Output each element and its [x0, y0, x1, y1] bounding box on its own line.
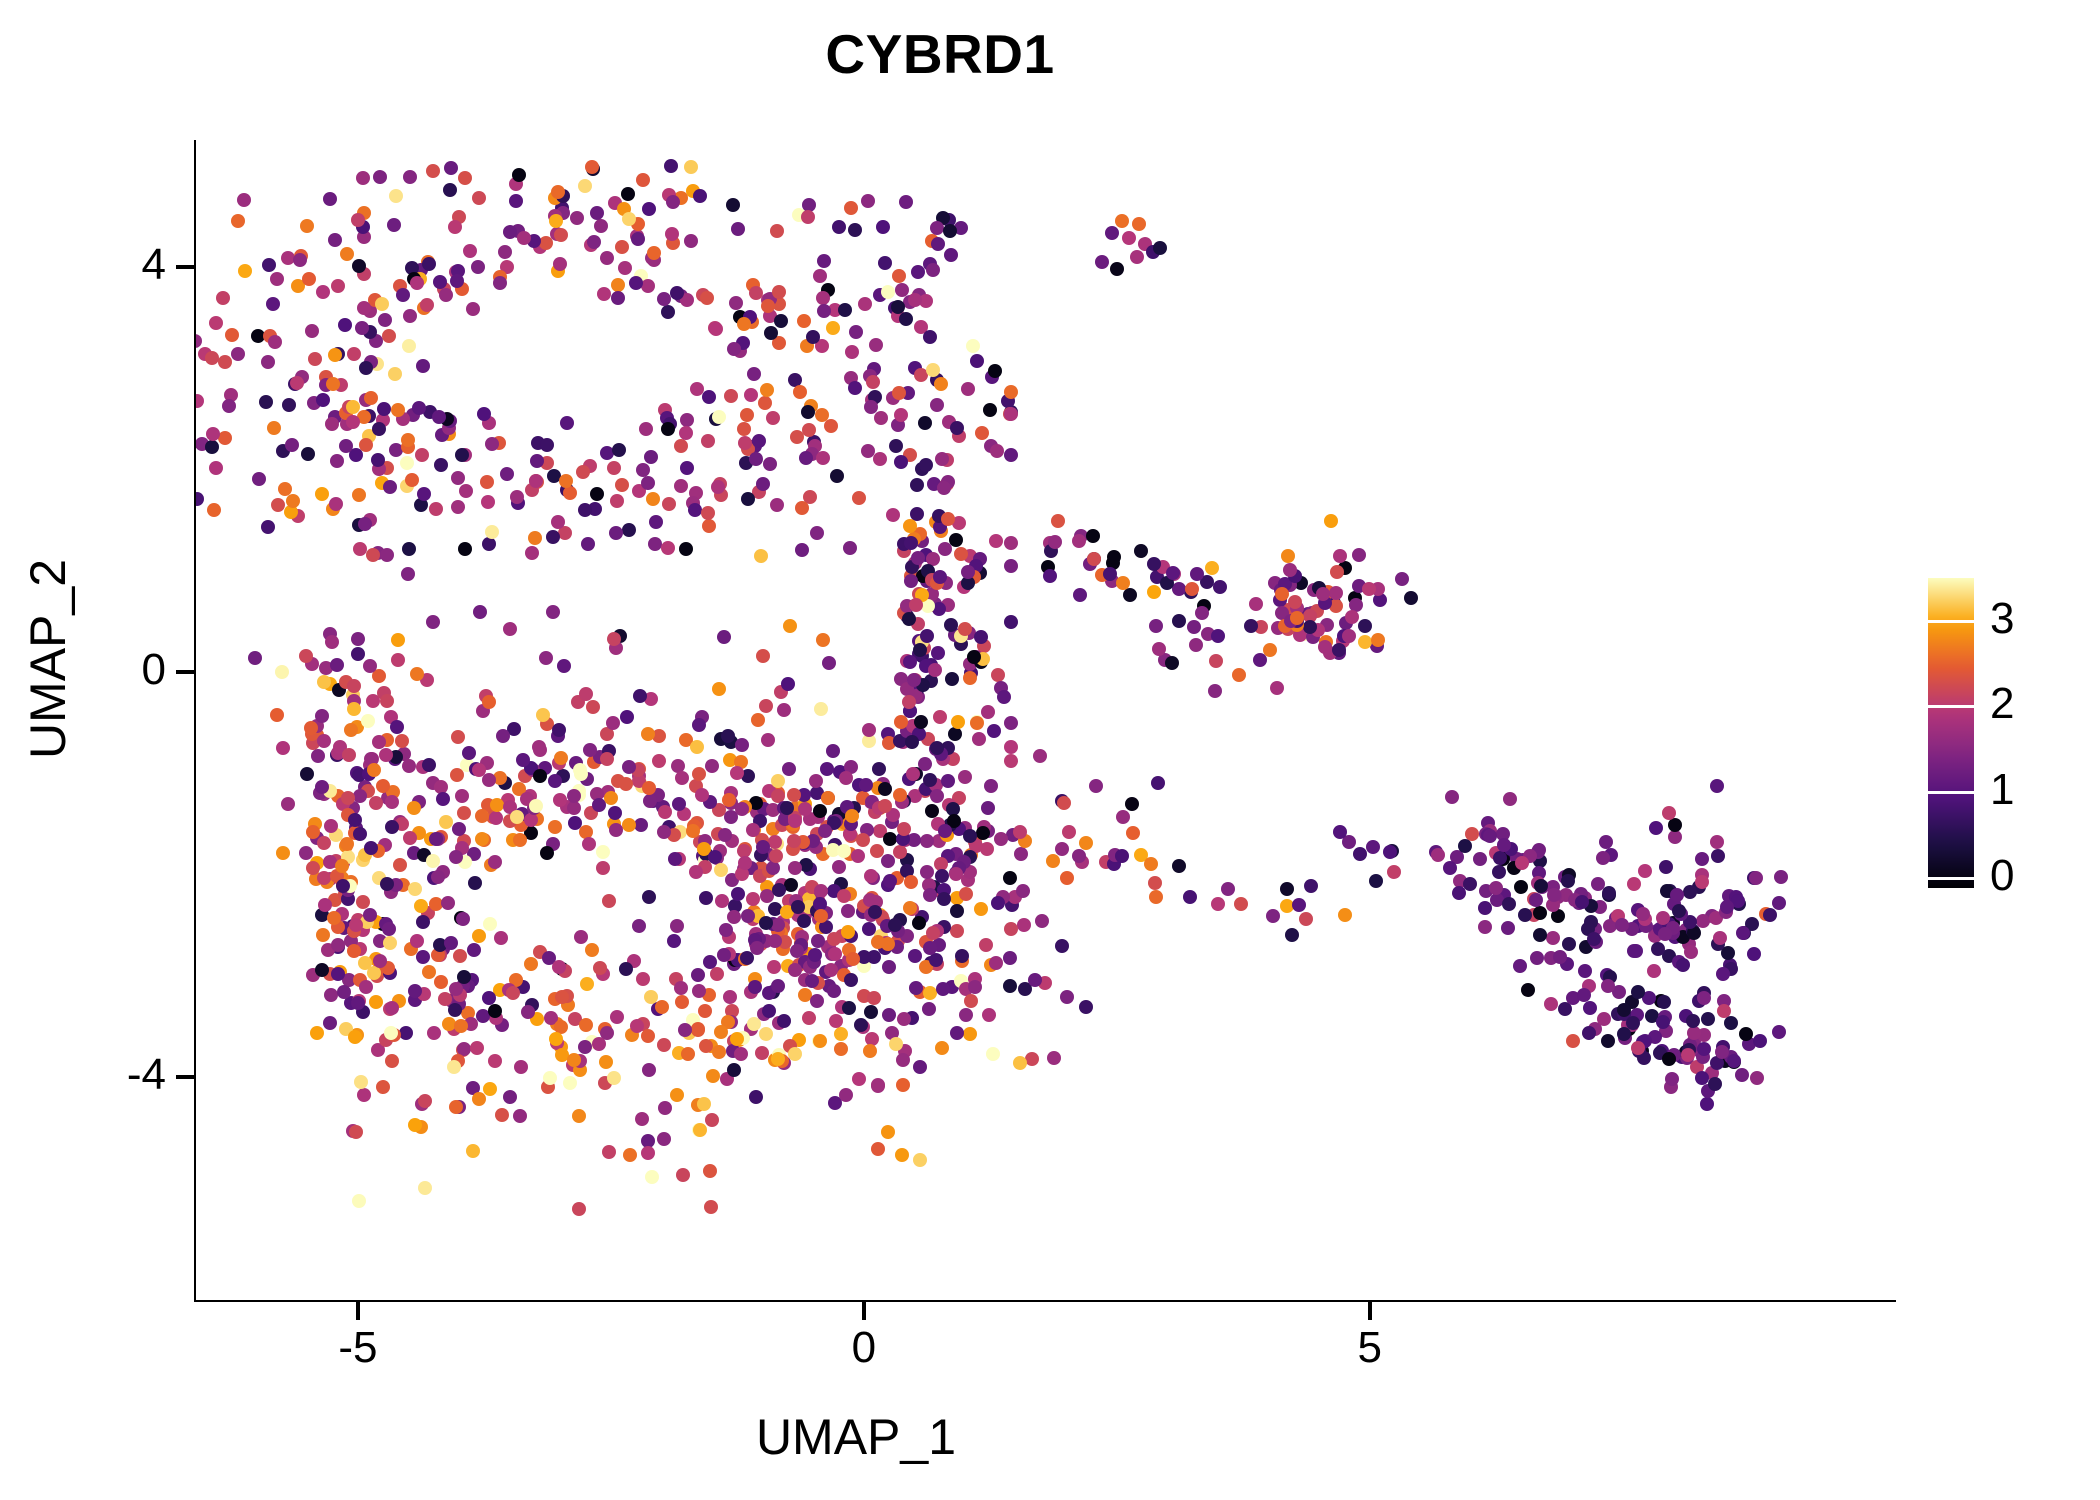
scatter-point: [205, 351, 219, 365]
scatter-point: [1048, 535, 1062, 549]
scatter-point: [642, 890, 656, 904]
scatter-point: [580, 977, 594, 991]
scatter-point: [635, 1112, 649, 1126]
scatter-point: [821, 791, 835, 805]
scatter-point: [782, 762, 796, 776]
scatter-point: [570, 211, 584, 225]
scatter-point: [1189, 638, 1203, 652]
scatter-point: [1187, 620, 1201, 634]
scatter-point: [383, 936, 397, 950]
colorbar-tick: [1928, 877, 1974, 880]
scatter-point: [730, 766, 744, 780]
scatter-point: [1515, 856, 1529, 870]
scatter-point: [353, 827, 367, 841]
scatter-point: [353, 542, 367, 556]
scatter-point: [1122, 231, 1136, 245]
scatter-point: [622, 760, 636, 774]
scatter-point: [918, 416, 932, 430]
scatter-point: [1125, 797, 1139, 811]
scatter-point: [781, 677, 795, 691]
scatter-point: [958, 622, 972, 636]
scatter-point: [528, 531, 542, 545]
scatter-point: [1130, 250, 1144, 264]
scatter-point: [488, 855, 502, 869]
scatter-point: [958, 770, 972, 784]
scatter-point: [822, 656, 836, 670]
scatter-point: [941, 512, 955, 526]
scatter-point: [1695, 852, 1709, 866]
scatter-point: [301, 447, 315, 461]
scatter-point: [477, 407, 491, 421]
scatter-point: [982, 1008, 996, 1022]
scatter-point: [641, 1029, 655, 1043]
scatter-point: [578, 179, 592, 193]
scatter-point: [1115, 849, 1129, 863]
scatter-point: [380, 548, 394, 562]
scatter-point: [1107, 550, 1121, 564]
scatter-point: [802, 423, 816, 437]
scatter-point: [649, 515, 663, 529]
scatter-point: [600, 752, 614, 766]
scatter-point: [945, 672, 959, 686]
scatter-point: [667, 934, 681, 948]
scatter-point: [416, 915, 430, 929]
scatter-point: [324, 819, 338, 833]
scatter-point: [1473, 852, 1487, 866]
scatter-point: [451, 730, 465, 744]
scatter-point: [532, 740, 546, 754]
scatter-point: [634, 818, 648, 832]
scatter-point: [1004, 385, 1018, 399]
scatter-point: [759, 1027, 773, 1041]
scatter-point: [488, 1004, 502, 1018]
scatter-point: [710, 967, 724, 981]
scatter-point: [1710, 779, 1724, 793]
scatter-point: [881, 1125, 895, 1139]
scatter-point: [657, 1038, 671, 1052]
scatter-point: [1492, 865, 1506, 879]
scatter-point: [1596, 851, 1610, 865]
scatter-point: [987, 724, 1001, 738]
scatter-point: [766, 861, 780, 875]
scatter-point: [795, 543, 809, 557]
scatter-point: [1211, 629, 1225, 643]
scatter-point: [1530, 951, 1544, 965]
scatter-point: [658, 1101, 672, 1115]
scatter-point: [1697, 1042, 1711, 1056]
scatter-point: [889, 439, 903, 453]
scatter-point: [662, 497, 676, 511]
scatter-point: [827, 932, 841, 946]
scatter-point: [712, 410, 726, 424]
scatter-point: [503, 225, 517, 239]
x-tick-label: 0: [804, 1326, 924, 1370]
scatter-point: [329, 497, 343, 511]
scatter-point: [602, 894, 616, 908]
scatter-point: [417, 487, 431, 501]
scatter-point: [369, 796, 383, 810]
scatter-point: [968, 980, 982, 994]
scatter-point: [554, 751, 568, 765]
scatter-point: [607, 461, 621, 475]
scatter-point: [950, 924, 964, 938]
scatter-point: [1205, 561, 1219, 575]
scatter-point: [552, 723, 566, 737]
scatter-point: [567, 1053, 581, 1067]
scatter-point: [908, 949, 922, 963]
scatter-point: [1772, 1025, 1786, 1039]
scatter-point: [1060, 990, 1074, 1004]
scatter-point: [1165, 656, 1179, 670]
scatter-point: [802, 1011, 816, 1025]
scatter-point: [1601, 979, 1615, 993]
colorbar-label: 3: [1990, 597, 2014, 641]
scatter-point: [749, 1090, 763, 1104]
scatter-point: [376, 1080, 390, 1094]
scatter-point: [670, 286, 684, 300]
scatter-point: [482, 537, 496, 551]
scatter-point: [1553, 950, 1567, 964]
scatter-point: [689, 865, 703, 879]
scatter-point: [607, 632, 621, 646]
scatter-point: [1544, 997, 1558, 1011]
scatter-point: [218, 431, 232, 445]
scatter-point: [904, 536, 918, 550]
scatter-point: [402, 339, 416, 353]
scatter-point: [408, 1118, 422, 1132]
scatter-point: [356, 171, 370, 185]
scatter-point: [455, 789, 469, 803]
scatter-point: [436, 792, 450, 806]
scatter-point: [717, 630, 731, 644]
scatter-point: [391, 633, 405, 647]
scatter-point: [981, 705, 995, 719]
scatter-point: [838, 303, 852, 317]
scatter-point: [641, 279, 655, 293]
scatter-point: [749, 452, 763, 466]
scatter-point: [594, 219, 608, 233]
scatter-point: [621, 187, 635, 201]
scatter-point: [984, 779, 998, 793]
scatter-point: [646, 492, 660, 506]
scatter-point: [1213, 580, 1227, 594]
scatter-point: [1166, 566, 1180, 580]
scatter-point: [1234, 897, 1248, 911]
scatter-point: [1003, 979, 1017, 993]
scatter-point: [453, 949, 467, 963]
scatter-point: [498, 245, 512, 259]
scatter-point: [1683, 885, 1697, 899]
scatter-point: [867, 991, 881, 1005]
scatter-point: [949, 533, 963, 547]
scatter-point: [1478, 920, 1492, 934]
scatter-point: [612, 443, 626, 457]
scatter-point: [769, 849, 783, 863]
scatter-point: [744, 388, 758, 402]
scatter-point: [1095, 255, 1109, 269]
scatter-point: [268, 335, 282, 349]
scatter-point: [676, 1168, 690, 1182]
scatter-point: [832, 220, 846, 234]
scatter-point: [470, 1041, 484, 1055]
scatter-point: [864, 869, 878, 883]
scatter-point: [1352, 548, 1366, 562]
scatter-point: [205, 440, 219, 454]
scatter-point: [699, 891, 713, 905]
scatter-point: [300, 219, 314, 233]
scatter-point: [471, 260, 485, 274]
scatter-point: [1103, 567, 1117, 581]
scatter-point: [705, 759, 719, 773]
scatter-point: [317, 871, 331, 885]
scatter-point: [466, 1144, 480, 1158]
scatter-point: [611, 291, 625, 305]
scatter-point: [878, 256, 892, 270]
scatter-point: [911, 265, 925, 279]
scatter-point: [426, 164, 440, 178]
scatter-point: [636, 463, 650, 477]
colorbar-tick: [1928, 705, 1974, 708]
scatter-point: [416, 359, 430, 373]
scatter-point: [493, 276, 507, 290]
scatter-point: [328, 233, 342, 247]
scatter-point: [557, 659, 571, 673]
scatter-point: [410, 276, 424, 290]
scatter-point: [1318, 640, 1332, 654]
scatter-point: [810, 526, 824, 540]
scatter-point: [1003, 871, 1017, 885]
x-tick-mark: [862, 1302, 866, 1320]
scatter-point: [443, 183, 457, 197]
scatter-point: [701, 506, 715, 520]
scatter-point: [892, 269, 906, 283]
scatter-point: [756, 649, 770, 663]
scatter-point: [1087, 552, 1101, 566]
scatter-point: [873, 452, 887, 466]
scatter-point: [391, 403, 405, 417]
scatter-point: [610, 494, 624, 508]
scatter-point: [385, 1054, 399, 1068]
scatter-point: [1073, 588, 1087, 602]
scatter-point: [636, 173, 650, 187]
scatter-point: [608, 806, 622, 820]
scatter-point: [1013, 825, 1027, 839]
scatter-point: [402, 542, 416, 556]
scatter-point: [1153, 241, 1167, 255]
scatter-point: [817, 254, 831, 268]
scatter-point: [718, 828, 732, 842]
scatter-point: [799, 451, 813, 465]
scatter-point: [1713, 931, 1727, 945]
scatter-point: [543, 1071, 557, 1085]
scatter-point: [657, 292, 671, 306]
scatter-point: [668, 852, 682, 866]
scatter-point: [814, 909, 828, 923]
scatter-point: [1333, 549, 1347, 563]
scatter-point: [340, 837, 354, 851]
scatter-point: [692, 767, 706, 781]
scatter-point: [483, 917, 497, 931]
scatter-point: [400, 456, 414, 470]
scatter-point: [911, 551, 925, 565]
scatter-point: [1055, 842, 1069, 856]
scatter-point: [444, 936, 458, 950]
scatter-point: [572, 1109, 586, 1123]
scatter-point: [1503, 792, 1517, 806]
x-tick-mark: [1368, 1302, 1372, 1320]
scatter-point: [816, 633, 830, 647]
scatter-point: [1383, 845, 1397, 859]
scatter-point: [882, 1008, 896, 1022]
scatter-point: [756, 477, 770, 491]
scatter-point: [316, 393, 330, 407]
scatter-point: [317, 836, 331, 850]
scatter-point: [1662, 806, 1676, 820]
scatter-point: [609, 526, 623, 540]
scatter-point: [361, 714, 375, 728]
scatter-point: [592, 1037, 606, 1051]
scatter-point: [373, 170, 387, 184]
scatter-point: [701, 434, 715, 448]
scatter-point: [700, 291, 714, 305]
x-tick-label: 5: [1310, 1326, 1430, 1370]
scatter-point: [466, 302, 480, 316]
scatter-point: [1324, 514, 1338, 528]
scatter-point: [585, 160, 599, 174]
scatter-point: [418, 1181, 432, 1195]
scatter-point: [1686, 1014, 1700, 1028]
scatter-point: [1221, 882, 1235, 896]
scatter-point: [555, 990, 569, 1004]
scatter-point: [300, 767, 314, 781]
scatter-point: [936, 982, 950, 996]
scatter-point: [529, 799, 543, 813]
scatter-point: [1562, 937, 1576, 951]
scatter-point: [983, 403, 997, 417]
scatter-point: [674, 479, 688, 493]
scatter-point: [980, 842, 994, 856]
scatter-point: [658, 805, 672, 819]
scatter-point: [935, 869, 949, 883]
scatter-point: [832, 860, 846, 874]
scatter-point: [783, 619, 797, 633]
scatter-point: [690, 740, 704, 754]
scatter-point: [906, 767, 920, 781]
scatter-point: [691, 1022, 705, 1036]
scatter-point: [1502, 897, 1516, 911]
scatter-point: [1649, 821, 1663, 835]
scatter-point: [317, 734, 331, 748]
scatter-point: [449, 1100, 463, 1114]
scatter-point: [402, 759, 416, 773]
scatter-point: [642, 781, 656, 795]
scatter-point: [482, 695, 496, 709]
scatter-point: [963, 829, 977, 843]
scatter-point: [970, 716, 984, 730]
scatter-point: [399, 1026, 413, 1040]
scatter-point: [914, 715, 928, 729]
scatter-point: [426, 615, 440, 629]
scatter-point: [737, 422, 751, 436]
scatter-point: [814, 702, 828, 716]
scatter-point: [674, 981, 688, 995]
scatter-point: [641, 476, 655, 490]
scatter-point: [416, 950, 430, 964]
scatter-point: [826, 321, 840, 335]
scatter-point: [923, 330, 937, 344]
scatter-point: [209, 316, 223, 330]
colorbar-tick: [1928, 791, 1974, 794]
scatter-point: [382, 329, 396, 343]
scatter-point: [1209, 654, 1223, 668]
scatter-point: [964, 994, 978, 1008]
scatter-point: [719, 923, 733, 937]
scatter-point: [231, 347, 245, 361]
scatter-point: [661, 541, 675, 555]
scatter-point: [533, 769, 547, 783]
scatter-point: [896, 1053, 910, 1067]
scatter-point: [351, 647, 365, 661]
scatter-point: [760, 383, 774, 397]
scatter-point: [1147, 585, 1161, 599]
scatter-point: [261, 355, 275, 369]
scatter-point: [1110, 262, 1124, 276]
scatter-point: [920, 865, 934, 879]
scatter-point: [1708, 1077, 1722, 1091]
scatter-point: [1514, 880, 1528, 894]
scatter-point: [206, 427, 220, 441]
scatter-point: [758, 396, 772, 410]
scatter-point: [1292, 898, 1306, 912]
scatter-point: [1004, 740, 1018, 754]
scatter-point: [1079, 1000, 1093, 1014]
scatter-point: [979, 938, 993, 952]
scatter-point: [473, 605, 487, 619]
scatter-point: [741, 769, 755, 783]
scatter-point: [824, 963, 838, 977]
scatter-point: [930, 398, 944, 412]
scatter-point: [897, 1012, 911, 1026]
scatter-point: [590, 206, 604, 220]
scatter-point: [1602, 886, 1616, 900]
scatter-point: [866, 375, 880, 389]
scatter-point: [1483, 829, 1497, 843]
scatter-point: [1283, 563, 1297, 577]
scatter-point: [1701, 1012, 1715, 1026]
scatter-point: [1501, 921, 1515, 935]
scatter-point: [432, 410, 446, 424]
scatter-point: [1717, 1004, 1731, 1018]
scatter-point: [920, 834, 934, 848]
scatter-point: [754, 549, 768, 563]
scatter-point: [323, 1016, 337, 1030]
scatter-point: [878, 799, 892, 813]
scatter-point: [390, 720, 404, 734]
scatter-point: [1387, 865, 1401, 879]
scatter-point: [422, 758, 436, 772]
scatter-point: [702, 390, 716, 404]
scatter-point: [452, 822, 466, 836]
scatter-point: [1028, 973, 1042, 987]
scatter-point: [348, 1030, 362, 1044]
scatter-point: [746, 823, 760, 837]
scatter-point: [318, 898, 332, 912]
scatter-point: [450, 274, 464, 288]
scatter-point: [525, 546, 539, 560]
scatter-point: [349, 918, 363, 932]
scatter-point: [1566, 1034, 1580, 1048]
scatter-point: [364, 841, 378, 855]
